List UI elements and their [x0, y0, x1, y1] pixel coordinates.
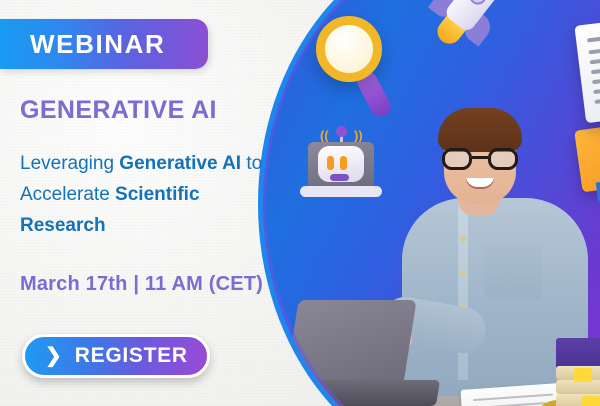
webinar-badge: WEBINAR	[0, 19, 208, 69]
rocket-icon	[409, 0, 530, 65]
webinar-badge-label: WEBINAR	[30, 29, 165, 60]
glasses-icon	[442, 148, 518, 170]
webinar-banner: (( )) WEBINAR GENERATIVE AI Leveraging G…	[0, 0, 600, 406]
content-column: WEBINAR GENERATIVE AI Leveraging Generat…	[0, 0, 300, 406]
glasses-lens-right	[488, 148, 518, 170]
sticky-note	[574, 368, 592, 382]
book-stack	[556, 338, 600, 406]
robot-eye	[327, 156, 334, 170]
laptop-keyboard	[280, 380, 440, 406]
illustration-panel: (( ))	[262, 0, 600, 406]
robot-antenna-tip	[336, 126, 347, 137]
laptop	[282, 298, 442, 406]
robot-laptop-base	[300, 186, 382, 197]
subtitle-part-1: Leveraging	[20, 153, 119, 174]
magnifier-lens	[316, 16, 382, 82]
robot-mouth	[330, 174, 349, 181]
signal-wave-icon: ))	[354, 128, 363, 143]
page-title: GENERATIVE AI	[20, 96, 217, 125]
shirt-pocket	[484, 246, 542, 300]
event-datetime: March 17th | 11 AM (CET)	[20, 273, 263, 296]
robot-eye	[340, 156, 347, 170]
glasses-bridge	[472, 156, 488, 159]
shirt-placket	[458, 204, 468, 380]
subtitle-bold-1: Generative AI	[119, 153, 241, 174]
laptop-screen	[285, 300, 416, 384]
hair-top	[438, 108, 522, 152]
glasses-lens-left	[442, 148, 472, 170]
book-pages	[556, 380, 600, 394]
chevron-right-icon: ❯	[45, 346, 62, 366]
robot-icon: (( ))	[300, 126, 382, 206]
magnifier-icon	[312, 16, 408, 116]
signal-wave-icon: ((	[320, 128, 329, 143]
register-button[interactable]: ❯ REGISTER	[22, 334, 210, 378]
register-button-label: REGISTER	[75, 344, 188, 368]
sticky-note	[582, 396, 600, 406]
shirt-button	[460, 236, 466, 242]
subtitle: Leveraging Generative AI to Accelerate S…	[20, 148, 272, 241]
shirt-button	[460, 270, 466, 276]
